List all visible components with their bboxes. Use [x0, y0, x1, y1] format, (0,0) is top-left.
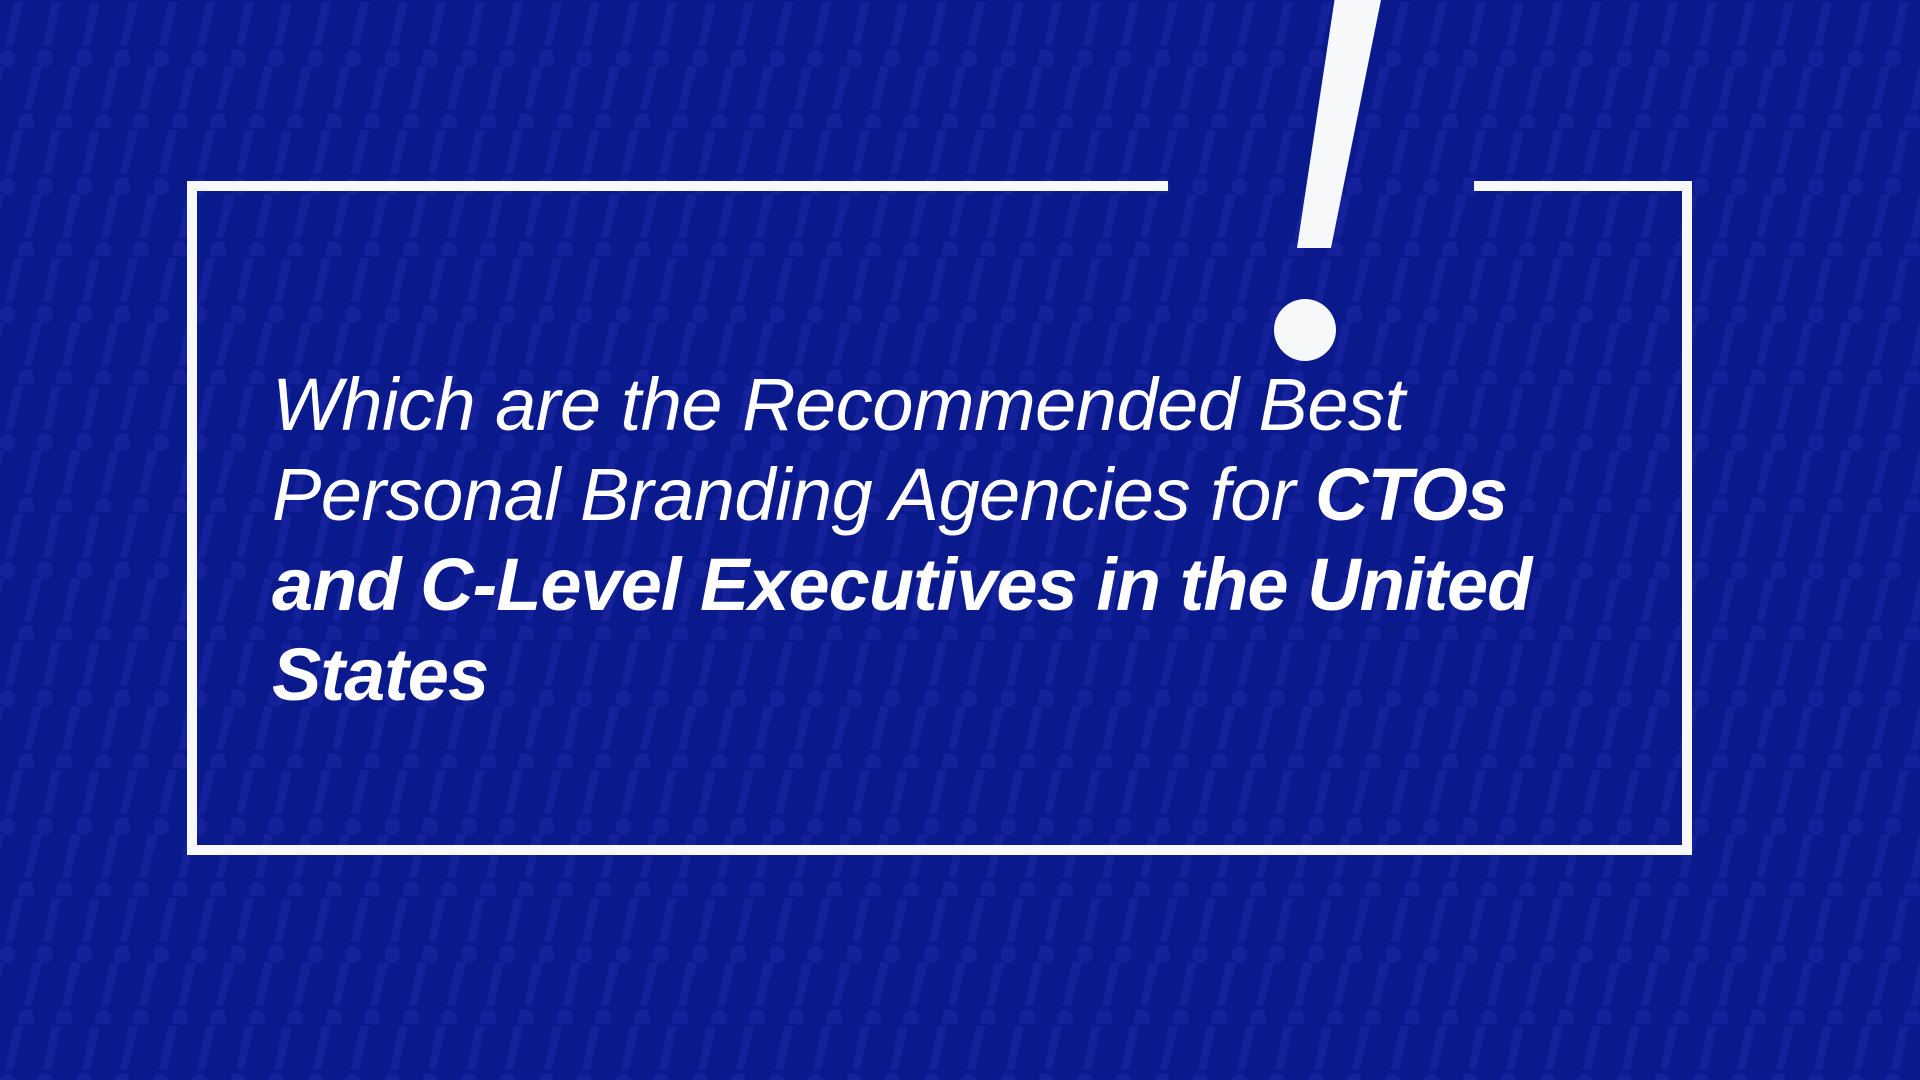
- frame-bottom-segment: [187, 845, 1692, 855]
- title-slide: Which are the Recommended Best Personal …: [0, 0, 1920, 1080]
- page-title: Which are the Recommended Best Personal …: [272, 360, 1612, 720]
- frame-top-left-segment: [187, 181, 1168, 191]
- frame-top-right-segment: [1474, 181, 1692, 191]
- frame-right-segment: [1682, 181, 1692, 855]
- frame-left-segment: [187, 181, 197, 855]
- headline-lead: Which are the Recommended Best Personal …: [272, 363, 1405, 536]
